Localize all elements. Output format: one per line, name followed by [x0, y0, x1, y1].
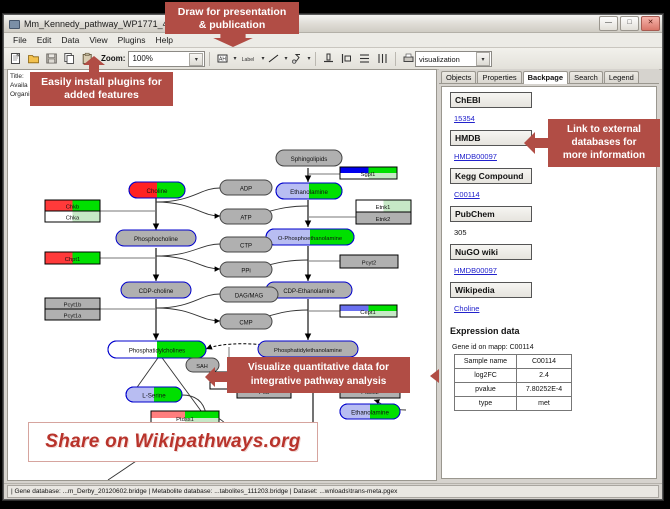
menu-item-file[interactable]: File [8, 35, 32, 45]
db-header-wikipedia: Wikipedia [450, 282, 532, 298]
maximize-button[interactable]: □ [620, 16, 639, 31]
visualization-select[interactable]: visualization ▾ [415, 51, 492, 67]
svg-text:Label: Label [242, 57, 255, 63]
tab-search[interactable]: Search [569, 71, 603, 83]
node-label: Phosphatidylcholines [129, 349, 185, 355]
tab-legend[interactable]: Legend [604, 71, 639, 83]
zoom-value: 100% [132, 54, 152, 63]
node-label: O-Phosphoethanolamine [278, 236, 342, 242]
row-value: 2.4 [517, 369, 572, 383]
gene-etnk1[interactable]: Etnk1 [356, 200, 411, 212]
anchor-icon[interactable] [288, 50, 305, 67]
row-value: C00114 [517, 355, 572, 369]
db-link-nugo[interactable]: HMDB00097 [454, 266, 497, 275]
node-label: CMP [239, 321, 252, 327]
side-panel-tabs: Objects Properties Backpage Search Legen… [439, 69, 659, 84]
menu-item-plugins[interactable]: Plugins [113, 35, 151, 45]
gene-label: Etnk1 [376, 205, 391, 211]
node-o-phosphoethanolamine[interactable]: O-Phosphoethanolamine [266, 229, 354, 245]
gene-label: Pcyt1a [64, 314, 82, 320]
gene-label: Cept1 [360, 310, 375, 316]
pathway-canvas[interactable]: Title: Availa Organi [7, 69, 437, 481]
line-icon[interactable] [265, 50, 282, 67]
row-value: met [517, 397, 572, 411]
toolbar-separator [209, 52, 210, 66]
menu-item-view[interactable]: View [84, 35, 112, 45]
label-dropdown-icon[interactable]: ▾ [261, 55, 264, 62]
menu-item-help[interactable]: Help [151, 35, 178, 45]
node-ctp[interactable]: CTP [220, 237, 272, 252]
gene-label: Pcyt1b [64, 303, 82, 309]
share-callout: Share on Wikipathways.org [28, 422, 318, 462]
gene-etnk2[interactable]: Etnk2 [356, 212, 411, 224]
pathway-diagram[interactable]: Sphingolipids Ethanolamine O-Pho [8, 70, 434, 481]
db-link-chebi[interactable]: 15354 [454, 114, 475, 123]
gene-label: Pcyt2 [362, 261, 377, 267]
toolbar-separator-3 [395, 52, 396, 66]
callout-install-plugins: Easily install plugins for added feature… [30, 72, 173, 106]
node-label: ATP [240, 216, 251, 222]
node-label: DAG/MAG [235, 294, 264, 300]
gene-label: Chkb [66, 205, 80, 211]
align-bottom-icon[interactable] [320, 50, 337, 67]
tab-objects[interactable]: Objects [441, 71, 476, 83]
print-icon[interactable] [400, 50, 417, 67]
row-value: 7.80252E-4 [517, 383, 572, 397]
node-dagmag[interactable]: DAG/MAG [220, 287, 278, 302]
node-label: PPi [241, 269, 250, 275]
chevron-down-icon-viz[interactable]: ▾ [476, 52, 490, 66]
table-row: type met [455, 397, 572, 411]
db-header-hmdb: HMDB [450, 130, 532, 146]
gene-chkb[interactable]: Chkb [45, 200, 100, 211]
chevron-down-icon[interactable]: ▾ [189, 53, 203, 66]
datanode-icon[interactable]: AH [214, 50, 231, 67]
gene-label: Etnk2 [376, 217, 391, 223]
close-button[interactable]: ✕ [641, 16, 660, 31]
node-adp[interactable]: ADP [220, 180, 272, 195]
db-header-pubchem: PubChem [450, 206, 532, 222]
db-link-hmdb[interactable]: HMDB00097 [454, 152, 497, 161]
distribute-vertical-icon[interactable] [356, 50, 373, 67]
db-header-kegg: Kegg Compound [450, 168, 532, 184]
gene-chpt1[interactable]: Chpt1 [45, 252, 100, 264]
db-header-chebi: ChEBI [450, 92, 532, 108]
callout-external-databases: Link to external databases for more info… [548, 119, 660, 167]
gene-chka[interactable]: Chka [45, 211, 100, 222]
menu-item-edit[interactable]: Edit [32, 35, 57, 45]
callout-line-3: more information [555, 149, 653, 162]
node-label: CTP [240, 244, 252, 250]
callout-draw-for-publication: Draw for presentation & publication [165, 2, 299, 34]
node-phosphocholine[interactable]: Phosphocholine [116, 230, 196, 246]
datanode-dropdown-icon[interactable]: ▾ [233, 55, 236, 62]
node-cmp[interactable]: CMP [220, 314, 272, 329]
table-row: pvalue 7.80252E-4 [455, 383, 572, 397]
svg-text:AH: AH [219, 57, 226, 63]
node-label: Ethanolamine [290, 189, 328, 196]
db-link-kegg[interactable]: C00114 [454, 190, 480, 199]
expression-data-heading: Expression data [450, 326, 656, 336]
node-label: ADP [240, 187, 252, 193]
node-cdp-choline[interactable]: CDP-choline [121, 282, 191, 298]
node-ppi[interactable]: PPi [220, 262, 272, 277]
callout-line-1: Easily install plugins for [37, 76, 166, 89]
tab-properties[interactable]: Properties [477, 71, 521, 83]
callout-arrow-left-icon-2 [205, 366, 229, 388]
menu-item-data[interactable]: Data [56, 35, 84, 45]
node-choline-top[interactable]: Choline [129, 182, 185, 198]
distribute-horizontal-icon[interactable] [374, 50, 391, 67]
gene-label: Chpt1 [65, 257, 80, 263]
gene-sgpl1[interactable]: Sgpl1 [340, 167, 397, 179]
node-label: CDP-Ethanolamine [283, 289, 335, 295]
node-ethanolamine[interactable]: Ethanolamine [276, 183, 342, 199]
node-cdp-ethanolamine[interactable]: CDP-Ethanolamine [266, 282, 352, 298]
gene-id-on-mapp: Gene id on mapp: C00114 [452, 344, 656, 351]
callout-line-2: added features [37, 89, 166, 102]
callout-line-1: Link to external [555, 123, 653, 136]
row-label: pvalue [455, 383, 517, 397]
table-row: Sample name C00114 [455, 355, 572, 369]
db-value-pubchem: 305 [454, 228, 467, 237]
callout-line-1: Draw for presentation [172, 6, 292, 19]
node-phosphatidylcholines[interactable]: Phosphatidylcholines [108, 341, 206, 358]
window-controls: — □ ✕ [599, 16, 660, 31]
node-label: CDP-choline [139, 288, 174, 295]
node-label: Phosphocholine [134, 236, 179, 243]
node-atp[interactable]: ATP [220, 209, 272, 224]
node-phosphatidylethanolamine[interactable]: Phosphatidylethanolamine [258, 341, 358, 357]
db-link-wikipedia[interactable]: Choline [454, 304, 479, 313]
db-header-nugo: NuGO wiki [450, 244, 532, 260]
align-left-icon[interactable] [338, 50, 355, 67]
save-icon[interactable] [43, 50, 60, 67]
gene-label: Chka [66, 216, 80, 222]
title-bar: Mm_Kennedy_pathway_WP1771_45176.gpml — □… [4, 15, 662, 33]
row-label: log2FC [455, 369, 517, 383]
node-label: Ethanolamine [351, 410, 389, 417]
node-l-serine-left[interactable]: L-Serine [126, 387, 182, 402]
tab-backpage[interactable]: Backpage [523, 71, 568, 84]
gene-pcyt1a[interactable]: Pcyt1a [45, 309, 100, 320]
row-label: Sample name [455, 355, 517, 369]
callout-arrow-left-icon [524, 131, 550, 155]
callout-arrow-down-icon [213, 33, 253, 47]
gene-label: Sgpl1 [361, 172, 376, 178]
minimize-button[interactable]: — [599, 16, 618, 31]
node-label: Phosphatidylethanolamine [274, 348, 342, 354]
expression-table: Sample name C00114 log2FC 2.4 pvalue 7.8… [454, 354, 572, 411]
node-label: Choline [147, 188, 169, 195]
table-row: log2FC 2.4 [455, 369, 572, 383]
node-label: Sphingolipids [291, 156, 328, 163]
callout-line-2: integrative pathway analysis [234, 375, 403, 389]
visualization-value: visualization [419, 55, 460, 64]
status-bar: | Gene database: ...m_Derby_20120602.bri… [4, 483, 662, 499]
callout-arrow-up-icon [82, 56, 106, 74]
screenshot-root: Mm_Kennedy_pathway_WP1771_45176.gpml — □… [0, 0, 670, 509]
gene-pcyt1b[interactable]: Pcyt1b [45, 298, 100, 309]
label-icon[interactable]: Label [237, 50, 259, 67]
share-callout-text: Share on Wikipathways.org [45, 431, 300, 453]
callout-line-2: & publication [172, 19, 292, 32]
new-file-icon[interactable] [7, 50, 24, 67]
zoom-select[interactable]: 100% ▾ [128, 51, 205, 67]
node-label: L-Serine [142, 393, 166, 400]
open-folder-icon[interactable] [25, 50, 42, 67]
node-sphingolipids[interactable]: Sphingolipids [276, 150, 342, 166]
callout-arrow-marker-icon [430, 369, 442, 383]
menu-bar: File Edit Data View Plugins Help [4, 33, 662, 48]
anchor-dropdown-icon[interactable]: ▾ [307, 55, 310, 62]
copy-icon[interactable] [61, 50, 78, 67]
app-icon [8, 18, 20, 29]
line-dropdown-icon[interactable]: ▾ [284, 55, 287, 62]
callout-line-1: Visualize quantitative data for [234, 361, 403, 375]
gene-cept1[interactable]: Cept1 [340, 305, 397, 317]
toolbar-separator-2 [315, 52, 316, 66]
gene-pcyt2[interactable]: Pcyt2 [340, 255, 398, 268]
callout-visualize-quantitative-data: Visualize quantitative data for integrat… [227, 357, 410, 393]
row-label: type [455, 397, 517, 411]
status-text: | Gene database: ...m_Derby_20120602.bri… [7, 485, 659, 498]
node-ethanolamine-bottom[interactable]: Ethanolamine [340, 404, 400, 419]
callout-line-2: databases for [555, 136, 653, 149]
